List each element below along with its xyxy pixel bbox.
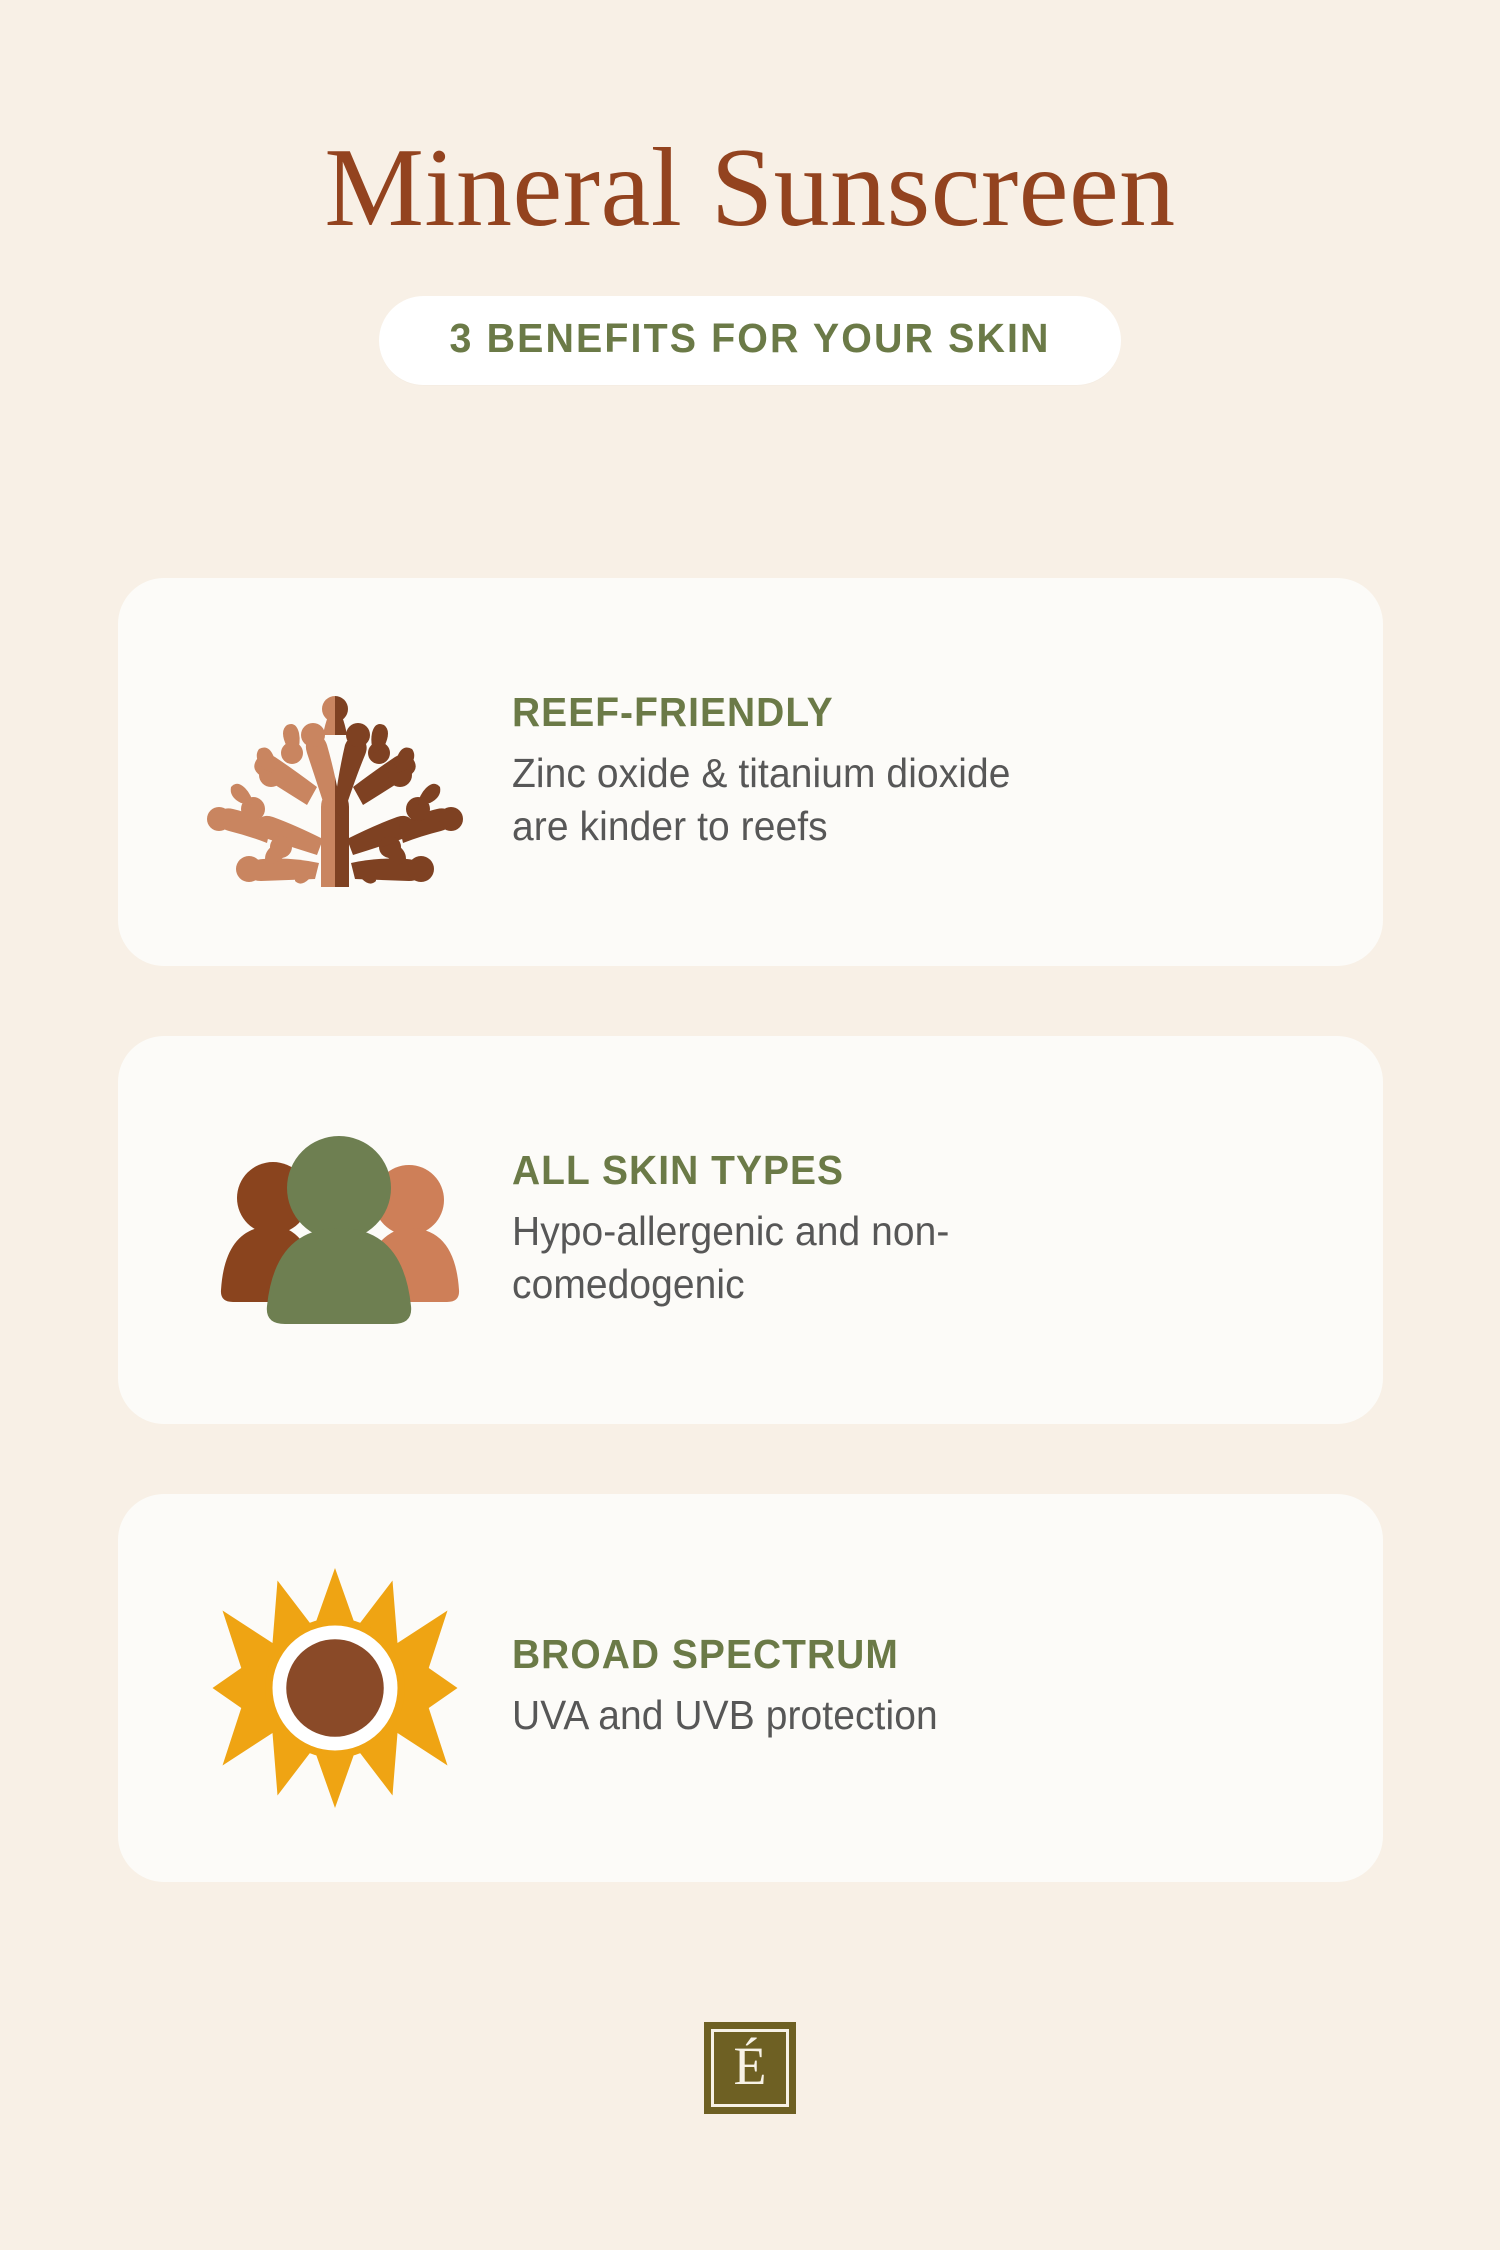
benefit-text-block: REEF-FRIENDLY Zinc oxide & titanium diox… xyxy=(500,692,1343,852)
benefit-title: BROAD SPECTRUM xyxy=(512,1634,1292,1675)
coral-icon xyxy=(195,657,475,887)
footer: É xyxy=(0,2022,1500,2114)
benefit-title: ALL SKIN TYPES xyxy=(512,1150,1292,1191)
benefit-card: BROAD SPECTRUM UVA and UVB protection xyxy=(118,1494,1383,1882)
benefit-description: Zinc oxide & titanium dioxide are kinder… xyxy=(512,747,1044,852)
header: Mineral Sunscreen 3 BENEFITS FOR YOUR SK… xyxy=(0,0,1500,385)
benefit-icon-slot xyxy=(170,1563,500,1813)
benefit-title: REEF-FRIENDLY xyxy=(512,692,1292,733)
benefit-card-list: REEF-FRIENDLY Zinc oxide & titanium diox… xyxy=(118,578,1383,1882)
people-group-icon xyxy=(205,1130,465,1330)
benefit-icon-slot xyxy=(170,657,500,887)
page-title: Mineral Sunscreen xyxy=(0,0,1500,244)
benefit-description: Hypo-allergenic and non-comedogenic xyxy=(512,1205,1044,1310)
infographic-poster: Mineral Sunscreen 3 BENEFITS FOR YOUR SK… xyxy=(0,0,1500,2250)
subtitle-container: 3 BENEFITS FOR YOUR SKIN xyxy=(0,296,1500,385)
subtitle-pill: 3 BENEFITS FOR YOUR SKIN xyxy=(379,296,1121,385)
benefit-description: UVA and UVB protection xyxy=(512,1689,1044,1741)
subtitle-text: 3 BENEFITS FOR YOUR SKIN xyxy=(449,318,1050,359)
sun-icon xyxy=(210,1563,460,1813)
benefit-text-block: BROAD SPECTRUM UVA and UVB protection xyxy=(500,1634,1343,1741)
brand-logo: É xyxy=(704,2022,796,2114)
benefit-text-block: ALL SKIN TYPES Hypo-allergenic and non-c… xyxy=(500,1150,1343,1310)
logo-letter: É xyxy=(734,2039,767,2097)
benefit-card: REEF-FRIENDLY Zinc oxide & titanium diox… xyxy=(118,578,1383,966)
benefit-card: ALL SKIN TYPES Hypo-allergenic and non-c… xyxy=(118,1036,1383,1424)
benefit-icon-slot xyxy=(170,1130,500,1330)
